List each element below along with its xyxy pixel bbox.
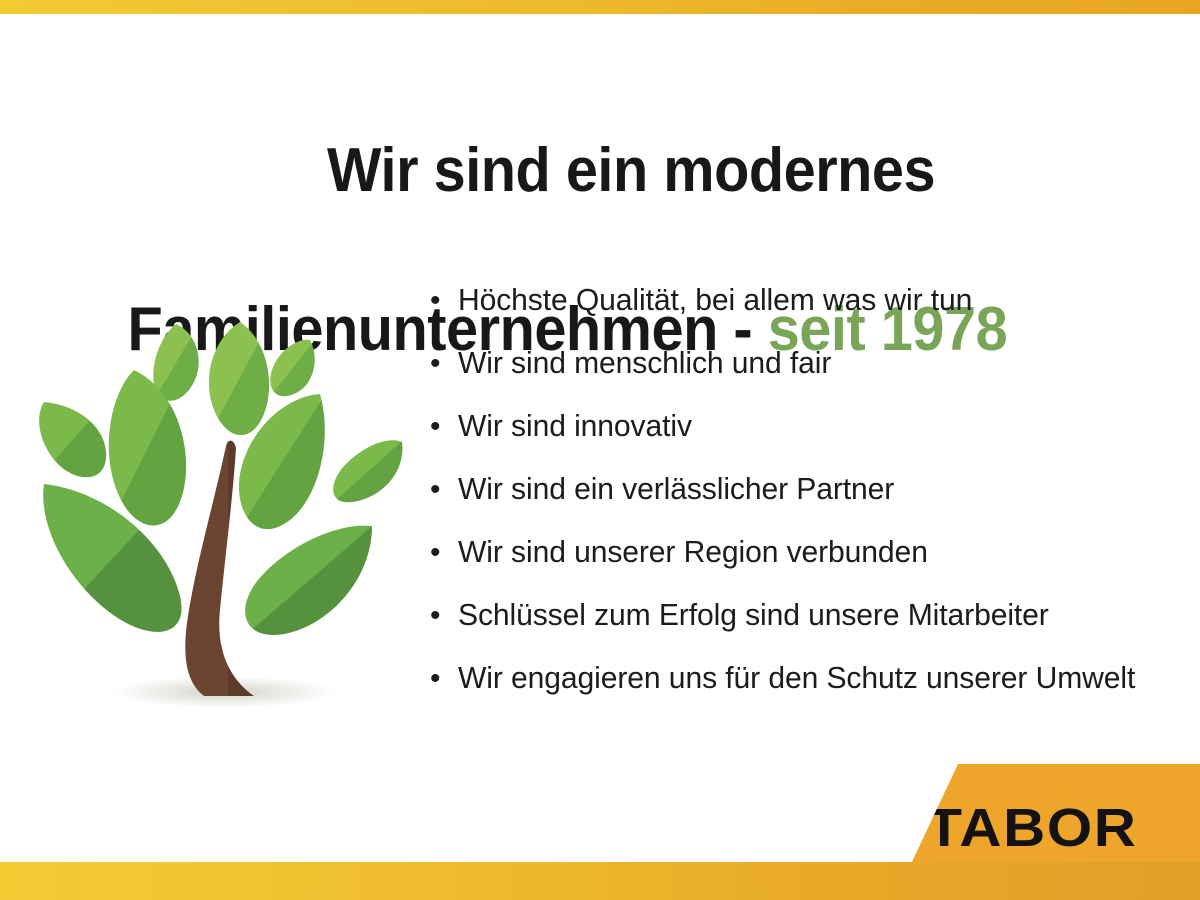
list-item: • Höchste Qualität, bei allem was wir tu… (426, 284, 1186, 347)
bullet-marker-icon: • (426, 538, 458, 568)
slide-canvas: Wir sind ein modernes Familienunternehme… (0, 0, 1200, 900)
list-item-label: Schlüssel zum Erfolg sind unsere Mitarbe… (458, 599, 1164, 630)
list-item: • Wir sind menschlich und fair (426, 347, 1186, 410)
list-item-label: Wir engagieren uns für den Schutz unsere… (458, 662, 1164, 693)
list-item: • Schlüssel zum Erfolg sind unsere Mitar… (426, 599, 1186, 662)
list-item: • Wir sind ein verlässlicher Partner (426, 473, 1186, 536)
brand-wordmark: TABOR (870, 801, 1194, 855)
list-item-label: Wir sind ein verlässlicher Partner (458, 473, 1164, 504)
list-item-label: Wir sind menschlich und fair (458, 347, 1164, 378)
bullet-marker-icon: • (426, 601, 458, 631)
bottom-accent-bar (0, 862, 1200, 900)
bullet-marker-icon: • (426, 412, 458, 442)
leaf-top-right-small (270, 340, 314, 396)
leaf-top-center (209, 322, 269, 435)
top-accent-bar (0, 0, 1200, 14)
tree-illustration (28, 296, 424, 720)
list-item: • Wir engagieren uns für den Schutz unse… (426, 662, 1186, 725)
leaf-lower-right (245, 526, 372, 635)
list-item-label: Wir sind innovativ (458, 410, 1164, 441)
leaf-far-left (39, 402, 106, 477)
list-item-label: Höchste Qualität, bei allem was wir tun (458, 284, 1164, 315)
bullet-marker-icon: • (426, 475, 458, 505)
bullet-marker-icon: • (426, 664, 458, 694)
list-item: • Wir sind unserer Region verbunden (426, 536, 1186, 599)
bullet-marker-icon: • (426, 286, 458, 316)
list-item-label: Wir sind unserer Region verbunden (458, 536, 1164, 567)
leaf-far-right (333, 440, 402, 502)
leaf-top-left-small (153, 324, 198, 401)
headline-line-1: Wir sind ein modernes (327, 136, 935, 205)
list-item: • Wir sind innovativ (426, 410, 1186, 473)
value-bullet-list: • Höchste Qualität, bei allem was wir tu… (426, 284, 1186, 725)
bullet-marker-icon: • (426, 349, 458, 379)
